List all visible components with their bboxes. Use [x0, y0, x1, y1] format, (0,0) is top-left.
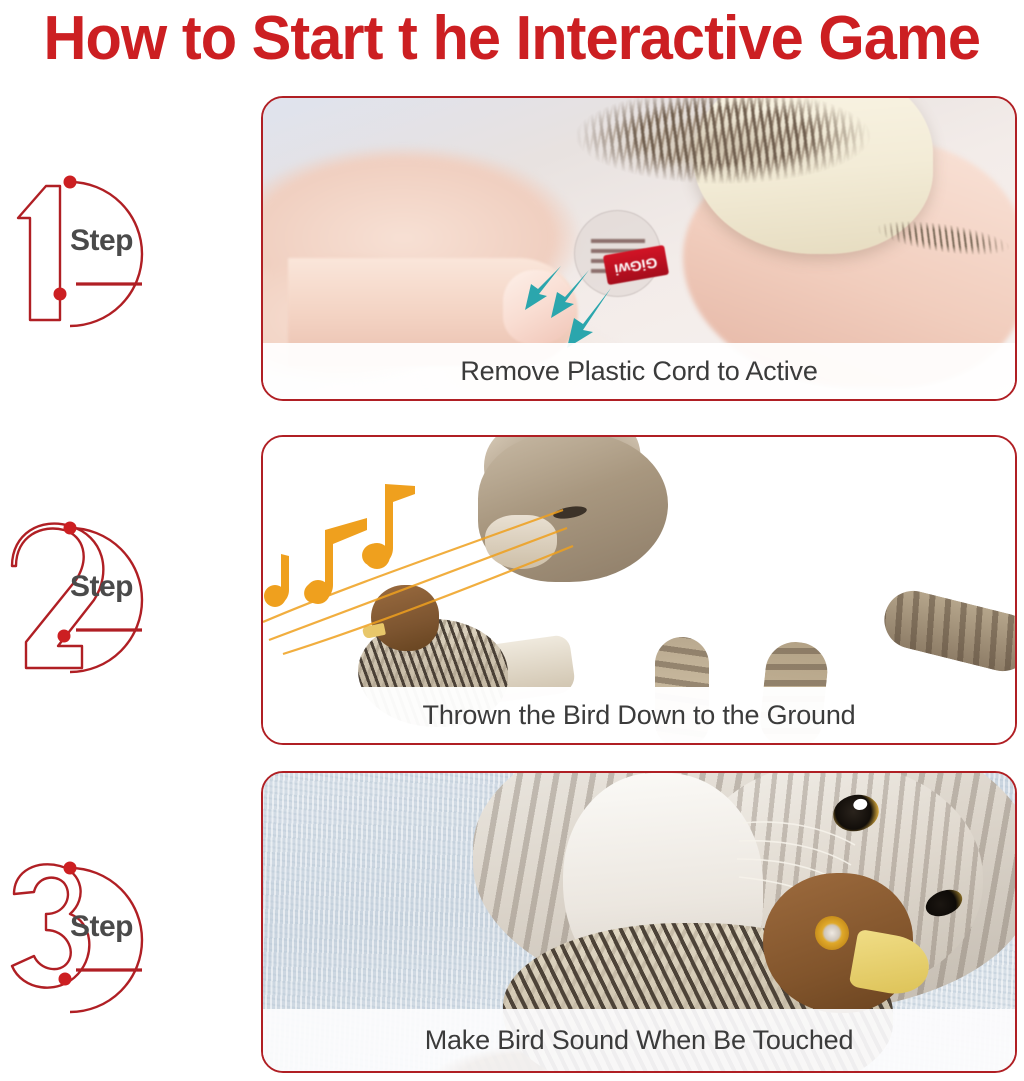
step-panel-3: Make Bird Sound When Be Touched: [261, 771, 1017, 1073]
step-1-caption-text: Remove Plastic Cord to Active: [460, 356, 817, 387]
page-title: How to Start t he Interactive Game: [0, 2, 1024, 76]
step-badge-2-label: Step: [70, 570, 133, 604]
step-badge-3-label: Step: [70, 910, 133, 944]
step-3-caption-text: Make Bird Sound When Be Touched: [425, 1025, 854, 1056]
step-panel-2: Thrown the Bird Down to the Ground: [261, 435, 1017, 745]
step-1-caption: Remove Plastic Cord to Active: [263, 343, 1015, 399]
page-title-text: How to Start t he Interactive Game: [44, 8, 980, 70]
step-2-caption: Thrown the Bird Down to the Ground: [263, 687, 1015, 743]
step-badge-2: Step: [8, 518, 178, 683]
step-3-caption: Make Bird Sound When Be Touched: [263, 1009, 1015, 1071]
step-badge-1-label: Step: [70, 224, 133, 258]
step-2-caption-text: Thrown the Bird Down to the Ground: [423, 700, 856, 731]
step-badge-1: Step: [8, 172, 178, 337]
music-notes-icon: [263, 472, 583, 657]
step-badge-3: Step: [8, 858, 178, 1023]
step-panel-1: GiGwi Remove Plastic Cord to Active: [261, 96, 1017, 401]
